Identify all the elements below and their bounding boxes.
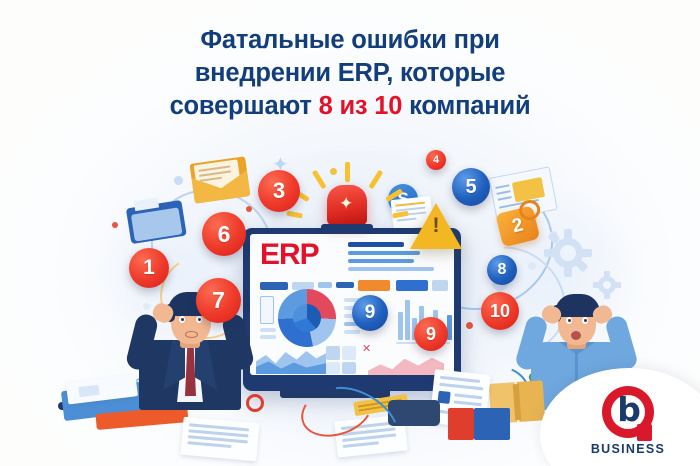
number-badge-8: 8 bbox=[487, 255, 517, 285]
brand-name: BUSINESS bbox=[580, 442, 676, 456]
brand-logo: b BUSINESS bbox=[580, 386, 676, 456]
close-x-icon: ✕ bbox=[362, 344, 371, 355]
envelope-icon bbox=[189, 156, 250, 203]
decor-dot bbox=[112, 222, 118, 228]
warning-exclamation: ! bbox=[418, 215, 454, 236]
number-badge-4: 4 bbox=[426, 150, 446, 170]
number-badge-7: 7 bbox=[196, 278, 241, 323]
number-badge-5: 5 bbox=[452, 168, 490, 206]
number-badge-1: 1 bbox=[129, 248, 169, 288]
decor-dot bbox=[246, 206, 252, 212]
number-badge-9: 9 bbox=[352, 295, 388, 331]
headline-line-3: совершают 8 из 10 компаний bbox=[0, 90, 700, 123]
number-badge-6: 6 bbox=[202, 212, 246, 256]
folder-icon bbox=[125, 194, 187, 246]
decor-dot bbox=[466, 322, 473, 329]
device-icon bbox=[388, 400, 440, 426]
headline-prefix: совершают bbox=[170, 92, 319, 120]
headline-line-2: внедрении ERP, которые bbox=[0, 57, 700, 90]
headline-line-1: Фатальные ошибки при bbox=[0, 24, 700, 57]
erp-dashboard: ERP bbox=[250, 234, 454, 375]
donut-chart bbox=[278, 289, 336, 347]
headline-suffix: компаний bbox=[402, 92, 530, 120]
number-badge-9b: 9 bbox=[414, 317, 448, 351]
price-tag-icon: 2 bbox=[494, 199, 544, 248]
box-icon bbox=[448, 408, 510, 440]
logo-letter-b: b bbox=[614, 393, 644, 427]
gear-icon bbox=[545, 230, 591, 276]
erp-screen-title: ERP bbox=[260, 240, 319, 270]
paper-sheet bbox=[180, 417, 259, 461]
poster-canvas: ✦ ✦ Фатальные ошибки при внедрении ERP, … bbox=[0, 0, 700, 466]
logo-mark: b bbox=[602, 386, 654, 438]
area-chart bbox=[256, 344, 326, 374]
warning-triangle-icon: ! bbox=[410, 203, 462, 249]
headline-highlight: 8 из 10 bbox=[319, 92, 403, 120]
area-chart-secondary bbox=[368, 350, 444, 375]
decor-dot bbox=[528, 262, 536, 270]
decor-dot bbox=[330, 168, 337, 175]
number-badge-10: 10 bbox=[481, 292, 519, 330]
decor-dot bbox=[174, 176, 183, 185]
page-title: Фатальные ошибки при внедрении ERP, кото… bbox=[0, 24, 700, 123]
record-icon bbox=[246, 394, 264, 412]
number-badge-3: 3 bbox=[258, 170, 300, 212]
